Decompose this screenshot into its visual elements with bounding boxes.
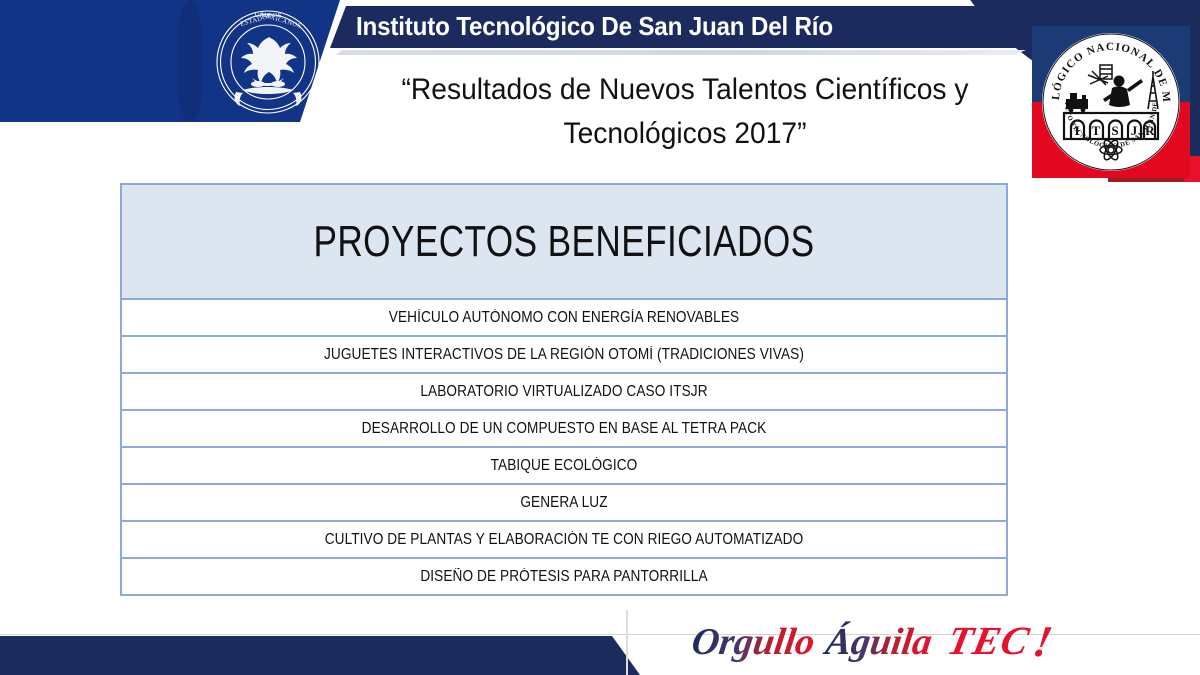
project-name: TABIQUE ECOLÓGICO — [175, 457, 953, 475]
table-row[interactable]: DISEÑO DE PRÓTESIS PARA PANTORRILLA — [121, 558, 1007, 595]
project-name: DESARROLLO DE UN COMPUESTO EN BASE AL TE… — [175, 420, 953, 438]
svg-text:T: T — [1092, 123, 1101, 138]
table-header-row: PROYECTOS BENEFICIADOS — [121, 184, 1007, 299]
project-name: DISEÑO DE PRÓTESIS PARA PANTORRILLA — [175, 568, 953, 586]
table-row[interactable]: VEHÍCULO AUTÓNOMO CON ENERGÍA RENOVABLES — [121, 299, 1007, 336]
project-name: LABORATORIO VIRTUALIZADO CASO ITSJR — [175, 383, 953, 401]
table-row[interactable]: DESARROLLO DE UN COMPUESTO EN BASE AL TE… — [121, 410, 1007, 447]
footer-navy-bar — [0, 636, 640, 675]
page-title-line2: Tecnológicos 2017” — [361, 112, 1010, 156]
project-name: JUGUETES INTERACTIVOS DE LA REGIÓN OTOMÍ… — [175, 346, 953, 364]
table-row[interactable]: JUGUETES INTERACTIVOS DE LA REGIÓN OTOMÍ… — [121, 336, 1007, 373]
table-row[interactable]: TABIQUE ECOLÓGICO — [121, 447, 1007, 484]
svg-text:R: R — [1145, 123, 1155, 138]
project-cell[interactable]: LABORATORIO VIRTUALIZADO CASO ITSJR — [121, 373, 1007, 410]
page-title-line1: “Resultados de Nuevos Talentos Científic… — [361, 68, 1010, 112]
itsjr-seal-icon: TECNOLÓGICO NACIONAL DE MÉXICO INSTITUTO… — [1040, 31, 1182, 173]
projects-table-body: PROYECTOS BENEFICIADOS VEHÍCULO AUTÓNOMO… — [121, 184, 1007, 595]
svg-text:I: I — [1074, 123, 1079, 138]
projects-table: PROYECTOS BENEFICIADOS VEHÍCULO AUTÓNOMO… — [120, 183, 1008, 596]
table-row[interactable]: GENERA LUZ — [121, 484, 1007, 521]
svg-text:S: S — [1111, 123, 1118, 138]
project-cell[interactable]: JUGUETES INTERACTIVOS DE LA REGIÓN OTOMÍ… — [121, 336, 1007, 373]
slogan-word-aguila: Águila — [821, 621, 934, 663]
project-name: GENERA LUZ — [175, 494, 953, 512]
mexican-coat-of-arms-icon: ESTADOS UNIDOS MEXICANOS — [212, 4, 324, 120]
project-cell[interactable]: TABIQUE ECOLÓGICO — [121, 447, 1007, 484]
table-row[interactable]: CULTIVO DE PLANTAS Y ELABORACIÓN TE CON … — [121, 521, 1007, 558]
sep-banner-shade — [178, 0, 202, 122]
project-cell[interactable]: GENERA LUZ — [121, 484, 1007, 521]
project-cell[interactable]: CULTIVO DE PLANTAS Y ELABORACIÓN TE CON … — [121, 521, 1007, 558]
project-name: CULTIVO DE PLANTAS Y ELABORACIÓN TE CON … — [175, 531, 953, 549]
institute-banner-underline — [336, 50, 1026, 55]
itsjr-logo: TECNOLÓGICO NACIONAL DE MÉXICO INSTITUTO… — [1032, 26, 1190, 178]
table-header-label: PROYECTOS BENEFICIADOS — [210, 217, 917, 267]
page-title: “Resultados de Nuevos Talentos Científic… — [361, 68, 1010, 156]
project-cell[interactable]: DESARROLLO DE UN COMPUESTO EN BASE AL TE… — [121, 410, 1007, 447]
slogan-word-tec: TEC — [944, 618, 1034, 663]
table-row[interactable]: LABORATORIO VIRTUALIZADO CASO ITSJR — [121, 373, 1007, 410]
institute-name: Instituto Tecnológico De San Juan Del Rí… — [356, 11, 970, 45]
slide-canvas: SEP SECRETARÍA DE EDUCACIÓN PÚBLICA ESTA… — [0, 0, 1200, 675]
orgullo-aguila-tec-slogan: Orgullo Águila TEC ! — [690, 614, 1090, 666]
project-cell[interactable]: VEHÍCULO AUTÓNOMO CON ENERGÍA RENOVABLES — [121, 299, 1007, 336]
project-cell[interactable]: DISEÑO DE PRÓTESIS PARA PANTORRILLA — [121, 558, 1007, 595]
table-header-cell: PROYECTOS BENEFICIADOS — [121, 184, 1007, 299]
svg-text:J: J — [1131, 123, 1138, 138]
footer-bar-edge — [626, 610, 628, 675]
project-name: VEHÍCULO AUTÓNOMO CON ENERGÍA RENOVABLES — [175, 309, 953, 327]
slogan-word-exclaim: ! — [1029, 616, 1057, 665]
slogan-word-orgullo: Orgullo — [690, 621, 817, 663]
